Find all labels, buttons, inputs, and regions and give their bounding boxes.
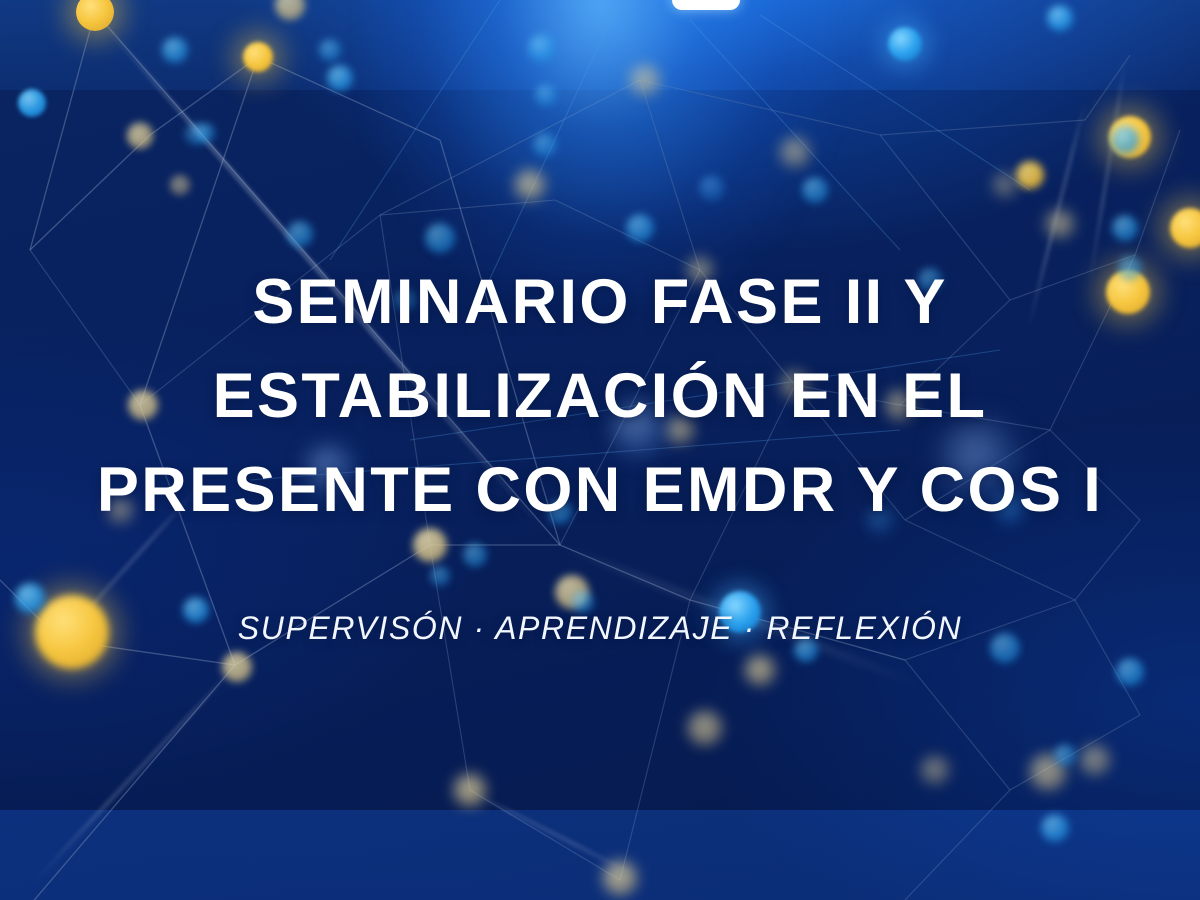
title-line-2: ESTABILIZACIÓN EN EL [25,349,1175,443]
title-slide: SEMINARIO FASE II Y ESTABILIZACIÓN EN EL… [0,0,1200,900]
slide-content: SEMINARIO FASE II Y ESTABILIZACIÓN EN EL… [0,0,1200,900]
slide-subtitle: SUPERVISÓN · APRENDIZAJE · REFLEXIÓN [238,610,962,647]
title-line-1: SEMINARIO FASE II Y [25,255,1175,349]
title-line-3: PRESENTE CON EMDR Y COS I [25,443,1175,537]
page-title: SEMINARIO FASE II Y ESTABILIZACIÓN EN EL… [25,255,1175,537]
